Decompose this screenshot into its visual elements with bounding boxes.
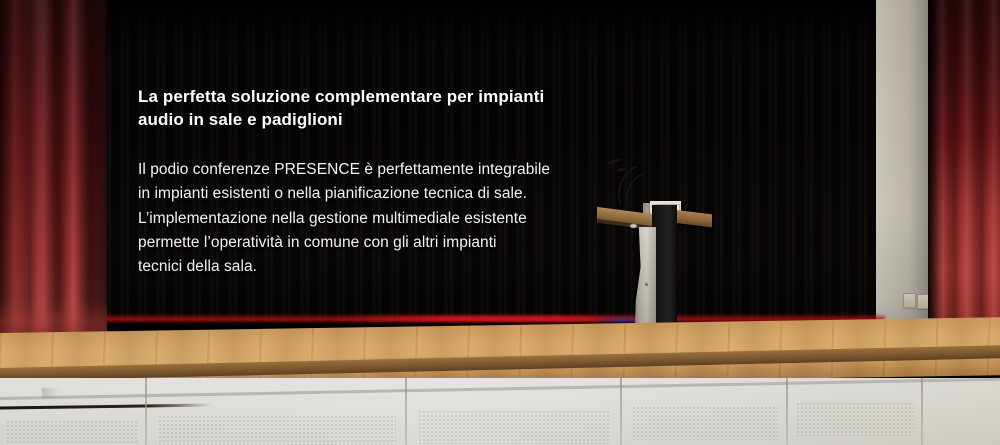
- apron-ventilation-grille: [158, 415, 396, 445]
- backdrop-top-shadow: [0, 0, 1000, 60]
- podium-panel-screw: [645, 283, 648, 286]
- apron-panel-seam: [786, 378, 788, 445]
- apron-panel-seam: [921, 378, 923, 445]
- apron-ventilation-grille: [796, 402, 914, 436]
- apron-panel-seam: [620, 378, 622, 445]
- side-wall-shading: [876, 0, 930, 340]
- apron-panel-seam: [145, 378, 147, 445]
- curtain-right-edge-shadow: [928, 0, 942, 338]
- curtain-left: [0, 0, 107, 352]
- stage-apron-scuff: [42, 388, 64, 398]
- body-paragraph: Il podio conferenze PRESENCE è perfettam…: [138, 158, 658, 280]
- headline: La perfetta soluzione complementare per …: [138, 85, 658, 132]
- apron-ventilation-grille: [418, 410, 610, 444]
- marketing-copy-block: La perfetta soluzione complementare per …: [138, 85, 658, 280]
- apron-panel-seam: [405, 378, 407, 445]
- apron-ventilation-grille: [632, 406, 778, 440]
- apron-ventilation-grille: [6, 420, 138, 445]
- wall-outlet-icon: [903, 293, 916, 308]
- stage-scene-image: La perfetta soluzione complementare per …: [0, 0, 1000, 445]
